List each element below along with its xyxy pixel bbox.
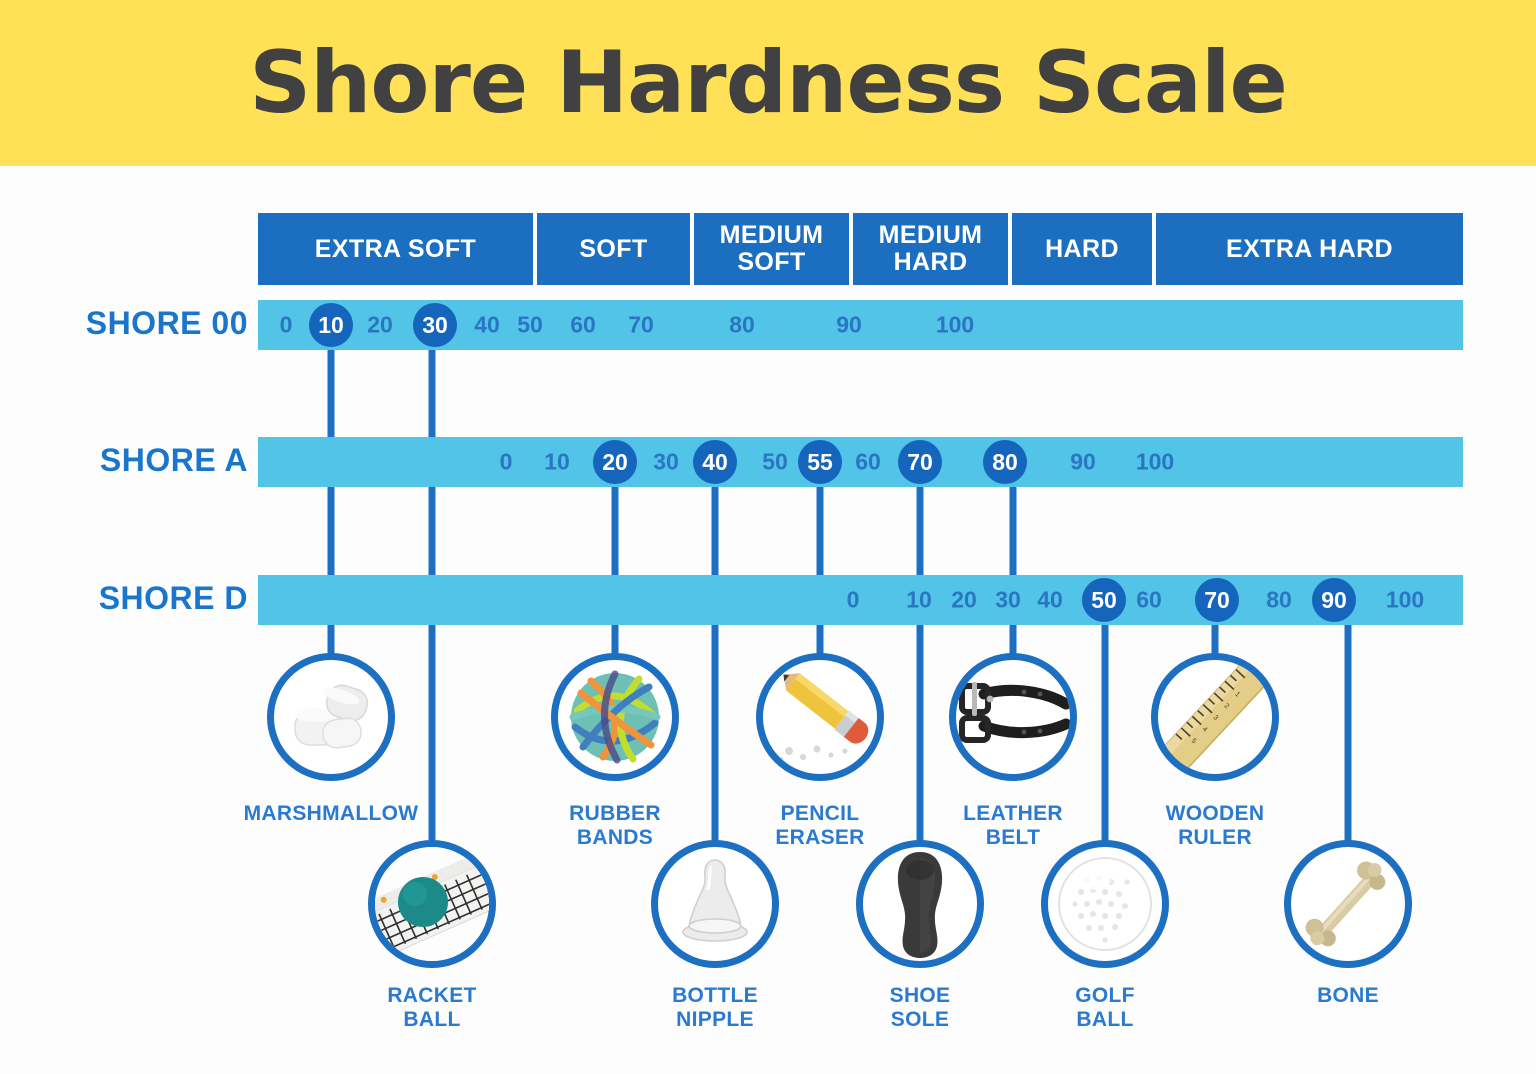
tick-label: 80 bbox=[729, 312, 755, 339]
page-title: Shore Hardness Scale bbox=[249, 40, 1287, 126]
title-banner: Shore Hardness Scale bbox=[0, 0, 1536, 166]
connector-line-leather-belt bbox=[1010, 461, 1017, 660]
product-bubble-marshmallow[interactable] bbox=[267, 653, 395, 781]
scale-marker[interactable]: 90 bbox=[1312, 578, 1356, 622]
scale-label-shore-d: SHORE D bbox=[33, 580, 248, 617]
tick-label: 50 bbox=[762, 449, 788, 476]
bottle-nipple-icon bbox=[667, 852, 763, 956]
scale-bar-shore-00: 0204050607080901001030 bbox=[258, 300, 1463, 350]
shoe-sole-icon bbox=[881, 848, 959, 960]
product-bubble-wooden-ruler[interactable]: 123 45 bbox=[1151, 653, 1279, 781]
category-hard: HARD bbox=[1012, 213, 1152, 285]
scale-bar-shore-a: 010305060901002040557080 bbox=[258, 437, 1463, 487]
scale-label-shore-a: SHORE A bbox=[33, 442, 248, 479]
tick-label: 40 bbox=[474, 312, 500, 339]
scale-marker[interactable]: 20 bbox=[593, 440, 637, 484]
scale-label-shore-00: SHORE 00 bbox=[33, 305, 248, 342]
tick-label: 0 bbox=[500, 449, 513, 476]
category-medium-soft: MEDIUM SOFT bbox=[694, 213, 849, 285]
product-caption-golf-ball: GOLF BALL bbox=[995, 984, 1215, 1031]
product-caption-racket-ball: RACKET BALL bbox=[322, 984, 542, 1031]
connector-line-bottle-nipple bbox=[712, 461, 719, 847]
wooden-ruler-icon: 123 45 bbox=[1156, 658, 1274, 776]
product-bubble-pencil-eraser[interactable] bbox=[756, 653, 884, 781]
category-extra-soft: EXTRA SOFT bbox=[258, 213, 533, 285]
product-caption-pencil-eraser: PENCIL ERASER bbox=[710, 802, 930, 849]
product-bubble-shoe-sole[interactable] bbox=[856, 840, 984, 968]
tick-label: 0 bbox=[280, 312, 293, 339]
scale-marker[interactable]: 80 bbox=[983, 440, 1027, 484]
leather-belt-icon bbox=[954, 674, 1072, 760]
scale-marker[interactable]: 70 bbox=[1195, 578, 1239, 622]
product-bubble-rubber-bands[interactable] bbox=[551, 653, 679, 781]
tick-label: 60 bbox=[570, 312, 596, 339]
tick-label: 10 bbox=[544, 449, 570, 476]
tick-label: 60 bbox=[1136, 587, 1162, 614]
tick-label: 90 bbox=[836, 312, 862, 339]
tick-label: 0 bbox=[847, 587, 860, 614]
product-caption-rubber-bands: RUBBER BANDS bbox=[505, 802, 725, 849]
scale-bar-shore-d: 0102030406080100507090 bbox=[258, 575, 1463, 625]
tick-label: 60 bbox=[855, 449, 881, 476]
tick-label: 20 bbox=[367, 312, 393, 339]
tick-label: 80 bbox=[1266, 587, 1292, 614]
connector-line-rubber-bands bbox=[612, 461, 619, 660]
connector-line-bone bbox=[1345, 599, 1352, 847]
product-bubble-bottle-nipple[interactable] bbox=[651, 840, 779, 968]
product-caption-bottle-nipple: BOTTLE NIPPLE bbox=[605, 984, 825, 1031]
tick-label: 50 bbox=[517, 312, 543, 339]
rubber-bands-icon bbox=[563, 665, 667, 769]
product-caption-bone: BONE bbox=[1238, 984, 1458, 1008]
product-bubble-leather-belt[interactable] bbox=[949, 653, 1077, 781]
tick-label: 70 bbox=[628, 312, 654, 339]
marshmallow-icon bbox=[283, 669, 379, 765]
tick-label: 20 bbox=[951, 587, 977, 614]
scale-marker[interactable]: 70 bbox=[898, 440, 942, 484]
category-soft: SOFT bbox=[537, 213, 690, 285]
connector-line-pencil-eraser bbox=[817, 461, 824, 660]
tick-label: 100 bbox=[936, 312, 974, 339]
scale-marker[interactable]: 55 bbox=[798, 440, 842, 484]
golf-ball-icon bbox=[1053, 852, 1157, 956]
bone-icon bbox=[1293, 849, 1403, 959]
category-medium-hard: MEDIUM HARD bbox=[853, 213, 1008, 285]
racket-ball-icon bbox=[368, 840, 496, 968]
connector-line-shoe-sole bbox=[917, 461, 924, 847]
tick-label: 10 bbox=[906, 587, 932, 614]
product-caption-wooden-ruler: WOODEN RULER bbox=[1105, 802, 1325, 849]
product-bubble-racket-ball[interactable] bbox=[368, 840, 496, 968]
product-bubble-bone[interactable] bbox=[1284, 840, 1412, 968]
tick-label: 30 bbox=[653, 449, 679, 476]
pencil-eraser-icon bbox=[761, 665, 879, 769]
category-extra-hard: EXTRA HARD bbox=[1156, 213, 1463, 285]
scale-marker[interactable]: 50 bbox=[1082, 578, 1126, 622]
category-header-row: EXTRA SOFTSOFTMEDIUM SOFTMEDIUM HARDHARD… bbox=[258, 213, 1463, 285]
tick-label: 40 bbox=[1037, 587, 1063, 614]
scale-marker[interactable]: 40 bbox=[693, 440, 737, 484]
infographic-root: Shore Hardness Scale EXTRA SOFTSOFTMEDIU… bbox=[0, 0, 1536, 1074]
scale-marker[interactable]: 10 bbox=[309, 303, 353, 347]
tick-label: 90 bbox=[1070, 449, 1096, 476]
product-bubble-golf-ball[interactable] bbox=[1041, 840, 1169, 968]
tick-label: 30 bbox=[995, 587, 1021, 614]
tick-label: 100 bbox=[1386, 587, 1424, 614]
scale-marker[interactable]: 30 bbox=[413, 303, 457, 347]
tick-label: 100 bbox=[1136, 449, 1174, 476]
product-caption-marshmallow: MARSHMALLOW bbox=[221, 802, 441, 826]
